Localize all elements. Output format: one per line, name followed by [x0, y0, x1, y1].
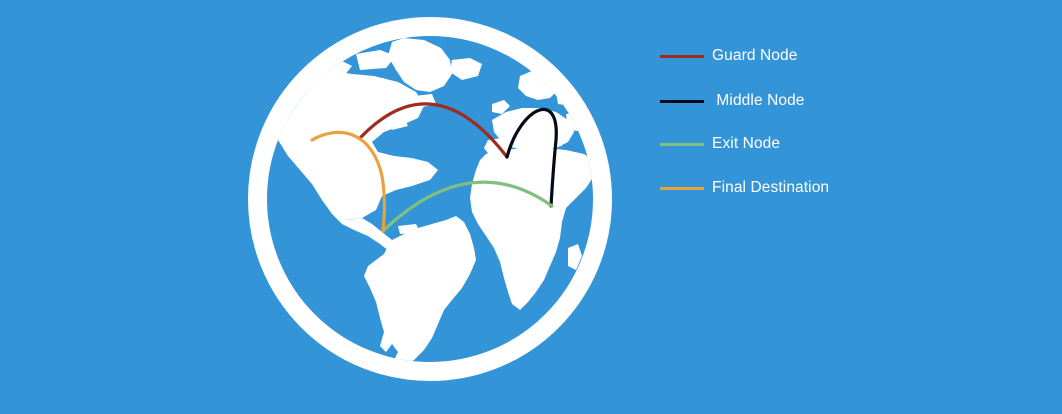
- legend-item-middle-node[interactable]: Middle Node: [660, 87, 805, 115]
- legend-label-final-destination: Final Destination: [712, 179, 829, 197]
- legend-label-middle-node: Middle Node: [712, 92, 805, 110]
- exit-node-color-swatch: [660, 143, 704, 146]
- globe-container: [0, 0, 660, 414]
- legend-item-guard-node[interactable]: Guard Node: [660, 42, 797, 70]
- legend-item-exit-node[interactable]: Exit Node: [660, 130, 780, 158]
- final-destination-color-swatch: [660, 187, 704, 190]
- globe-svg: [0, 0, 660, 414]
- middle-node-color-swatch: [660, 100, 704, 103]
- legend-label-exit-node: Exit Node: [712, 135, 780, 153]
- legend-item-final-destination[interactable]: Final Destination: [660, 174, 829, 202]
- legend-label-guard-node: Guard Node: [712, 47, 797, 65]
- guard-node-color-swatch: [660, 55, 704, 58]
- route-legend: Guard Node Middle Node Exit Node Final D…: [660, 32, 1060, 212]
- greenland-tip: [450, 58, 482, 80]
- tor-circuit-globe-graphic: Guard Node Middle Node Exit Node Final D…: [0, 0, 1062, 414]
